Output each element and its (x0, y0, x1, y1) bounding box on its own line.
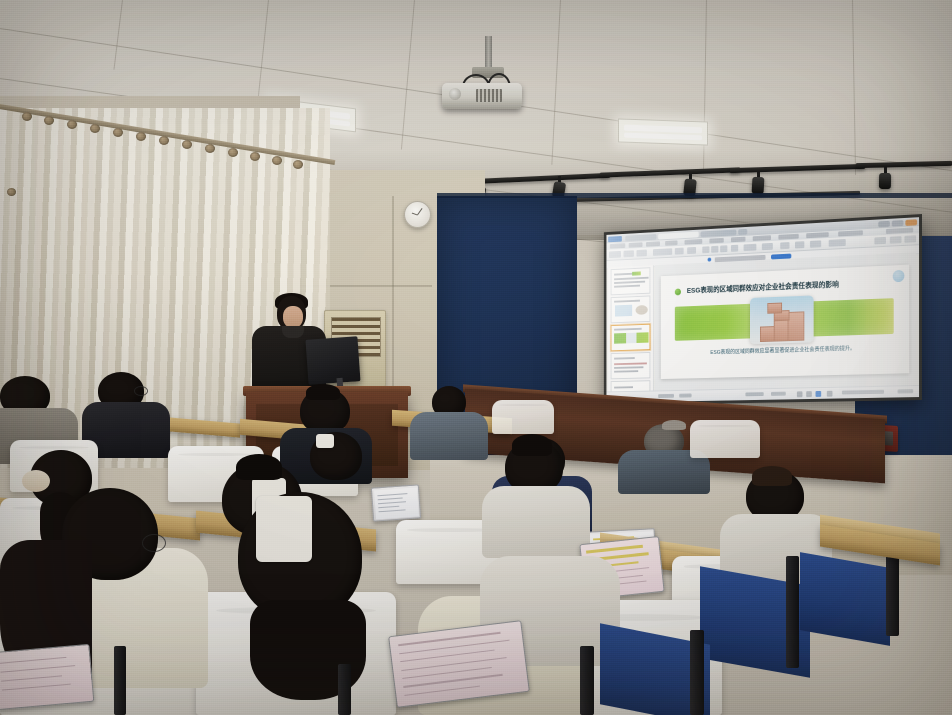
slide-caption: ESG表现的区域同群效应显著显著促进企业社会责任表现的提升。 (694, 344, 873, 357)
curtain-grommet (272, 156, 282, 165)
view-sorter-icon[interactable] (806, 391, 812, 397)
hair-scrunchie (22, 470, 50, 492)
presenter-face (283, 306, 303, 328)
projector-lens (449, 88, 461, 100)
slide-edit-area[interactable]: ESG表现的区域同群效应对企业社会责任表现的影响 ESG表现的区域同群效应显著显… (655, 252, 916, 390)
curtain-grommet (22, 112, 32, 121)
curtain-grommet (67, 120, 77, 129)
curtain-grommet (90, 124, 100, 133)
lecture-hall-photo: ESG表现的区域同群效应对企业社会责任表现的影响 ESG表现的区域同群效应显著显… (0, 0, 952, 715)
curtain-grommet (7, 188, 16, 196)
track-spotlight (879, 173, 891, 189)
ppt-new-tab-button[interactable] (738, 228, 747, 234)
audience-hair-bun (236, 454, 282, 480)
desk-leg (338, 664, 351, 715)
slide-thumbnail[interactable] (611, 352, 651, 379)
ribbon-button[interactable] (810, 240, 821, 247)
zoom-level (898, 389, 914, 393)
curtain-grommet (159, 136, 169, 145)
status-text (771, 392, 786, 396)
desk-side-panel (800, 552, 890, 646)
audience-hair-bun (512, 434, 552, 456)
desk-leg (580, 646, 594, 715)
projected-display: ESG表现的区域同群效应对企业社会责任表现的影响 ESG表现的区域同群效应显著显… (606, 217, 919, 402)
ppt-minimize-button[interactable] (878, 220, 890, 227)
audience-body (410, 412, 488, 460)
wall-clock (404, 201, 431, 228)
audience-hair-bun (306, 384, 340, 400)
navy-panel-top-edge (437, 193, 952, 198)
projector-mount-pole (485, 36, 492, 70)
ribbon-font-size[interactable] (675, 248, 684, 255)
eyeglasses (134, 386, 148, 396)
slide-watermark-icon (892, 270, 904, 282)
curtain-grommet (250, 152, 260, 161)
menu-item[interactable] (709, 238, 723, 244)
ribbon-button[interactable] (780, 242, 789, 249)
chair-cover (492, 400, 554, 434)
curtain-grommet (113, 128, 123, 137)
wps-logo-icon (608, 235, 622, 241)
ceiling-light-panel (618, 118, 708, 145)
ppt-close-button[interactable] (905, 219, 917, 226)
curtain-grommet (293, 160, 303, 169)
desk-leg (114, 646, 126, 715)
track-spotlight (752, 177, 765, 195)
slide-thumbnail-selected[interactable] (611, 324, 651, 352)
slide-thumbnail[interactable] (611, 267, 651, 295)
ribbon-bold-button[interactable] (702, 246, 709, 253)
ribbon-button[interactable] (636, 250, 646, 257)
status-slide-counter (658, 394, 674, 398)
projector-vent (476, 89, 502, 102)
ribbon-button[interactable] (890, 236, 902, 244)
audience-laptop[interactable] (371, 484, 421, 521)
ribbon-button[interactable] (762, 243, 773, 250)
curtain-grommet (228, 148, 238, 157)
ribbon-align-button[interactable] (744, 244, 757, 251)
ribbon-button[interactable] (609, 251, 621, 258)
podium-monitor (305, 336, 360, 385)
presenter-collar (282, 326, 304, 338)
curtain-grommet (44, 116, 54, 125)
audience-hair-bun (752, 466, 792, 486)
curtain-grommet (205, 144, 215, 153)
ribbon-button[interactable] (687, 247, 696, 254)
menu-item[interactable] (646, 241, 660, 246)
audience-gray-hair (662, 420, 686, 430)
ribbon-button[interactable] (731, 245, 738, 252)
status-text (745, 392, 763, 396)
chair-cover (690, 420, 760, 458)
menu-item[interactable] (629, 242, 643, 247)
slide-center-image (750, 296, 815, 345)
ppt-maximize-button[interactable] (892, 220, 904, 227)
ribbon-button[interactable] (829, 239, 846, 247)
slide-title: ESG表现的区域同群效应对企业社会责任表现的影响 (687, 280, 839, 296)
zoom-slider[interactable] (842, 390, 884, 395)
desk-leg (786, 556, 799, 668)
menu-item[interactable] (731, 237, 745, 243)
ribbon-button[interactable] (795, 241, 804, 248)
ribbon-font-name[interactable] (653, 248, 672, 256)
menu-item[interactable] (665, 240, 677, 245)
view-reading-icon[interactable] (816, 390, 822, 396)
status-text (679, 394, 691, 398)
projection-screen: ESG表现的区域同群效应对企业社会责任表现的影响 ESG表现的区域同群效应显著显… (604, 214, 922, 405)
audience-body (482, 486, 590, 558)
ribbon-underline-button[interactable] (720, 245, 727, 252)
ribbon-italic-button[interactable] (711, 246, 718, 253)
current-slide[interactable]: ESG表现的区域同群效应对企业社会责任表现的影响 ESG表现的区域同群效应显著显… (661, 265, 909, 379)
ribbon-button[interactable] (904, 235, 916, 243)
ribbon-button[interactable] (874, 237, 886, 245)
audience-tablet-left[interactable] (0, 644, 94, 710)
menu-item[interactable] (610, 243, 625, 249)
slideshow-icon[interactable] (827, 390, 833, 396)
desk-leg (690, 630, 704, 715)
view-normal-icon[interactable] (797, 391, 803, 397)
slide-thumbnail-panel[interactable] (608, 265, 654, 391)
curtain-grommet (182, 140, 192, 149)
info-icon (708, 257, 712, 261)
slide-bullet-icon (675, 289, 681, 296)
ppt-document-tab[interactable] (625, 233, 656, 240)
ribbon-button[interactable] (624, 250, 634, 257)
curtain-grommet (136, 132, 146, 141)
hair-clip (316, 434, 334, 448)
hair-clip (256, 496, 312, 562)
eyeglasses (142, 534, 166, 552)
slide-thumbnail[interactable] (611, 295, 651, 323)
